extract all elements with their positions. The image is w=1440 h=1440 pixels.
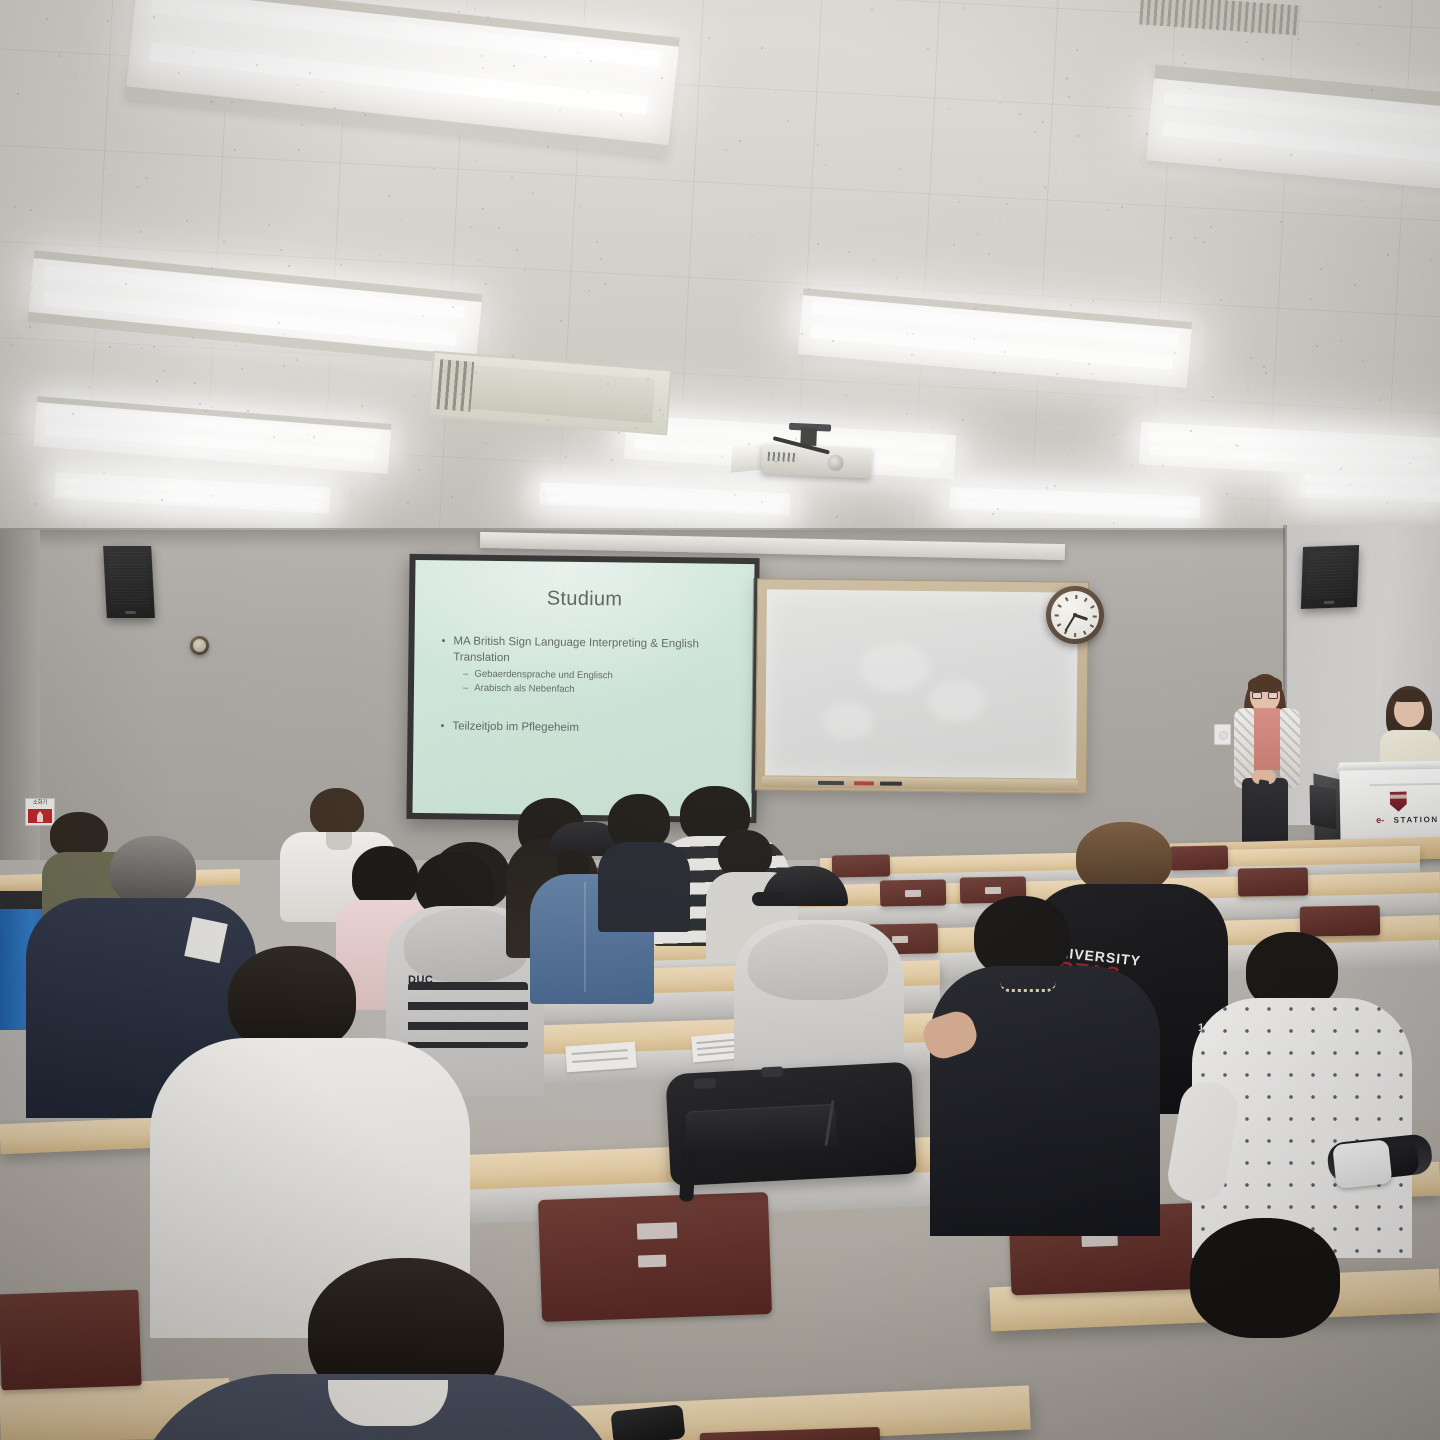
denim-seam <box>584 882 586 992</box>
chair-back <box>832 854 890 877</box>
chair-back <box>1170 845 1228 870</box>
shirt-collar <box>328 1380 448 1426</box>
bullet-marker: • <box>441 634 445 665</box>
slide-bullet: • Teilzeitjob im Pflegeheim <box>440 719 738 738</box>
ceiling-light-fixture <box>1300 467 1440 502</box>
sub-bullet-text: Arabisch als Nebenfach <box>474 681 575 696</box>
chair-back <box>880 879 946 906</box>
necklace <box>1000 982 1056 992</box>
cap-brim <box>752 892 784 906</box>
fire-extinguisher-sign-label: 소화기 <box>26 799 54 808</box>
backpack <box>665 1062 917 1187</box>
slide-bullet: • MA British Sign Language Interpreting … <box>441 634 739 669</box>
projection-screen: Studium • MA British Sign Language Inter… <box>406 554 759 823</box>
lecture-hall-photo: 소화기 Studium • MA British Sign Language I… <box>0 0 1440 1440</box>
sub-bullet-marker: – <box>463 681 468 695</box>
slide-title: Studium <box>415 586 754 613</box>
marker-tray <box>762 776 1078 790</box>
bullet-text: MA British Sign Language Interpreting & … <box>453 634 739 669</box>
bullet-text: Teilzeitjob im Pflegeheim <box>452 719 579 736</box>
hood <box>748 924 888 1000</box>
fire-extinguisher-sign: 소화기 <box>25 798 55 826</box>
university-crest-icon <box>1390 791 1407 811</box>
marker-icon <box>880 782 902 786</box>
whiteboard <box>755 578 1089 793</box>
hoodie-logo-text: DUC <box>408 974 433 986</box>
handout-paper <box>565 1042 637 1073</box>
speaker-icon <box>103 546 155 618</box>
chair-back <box>0 1290 142 1391</box>
speaker-icon <box>1301 545 1359 609</box>
chair-back <box>538 1192 772 1322</box>
podium-monitor <box>1310 785 1337 830</box>
chair-back <box>1300 905 1381 936</box>
vr-headset <box>1326 1133 1440 1226</box>
presentation-slide: Studium • MA British Sign Language Inter… <box>412 560 754 817</box>
marker-icon <box>854 781 874 785</box>
backpack-strap <box>679 1149 696 1202</box>
keys-object <box>610 1404 685 1440</box>
marker-icon <box>818 781 844 785</box>
collar <box>326 832 352 850</box>
projector-icon <box>761 426 873 479</box>
ceiling <box>0 0 1440 545</box>
glasses-icon <box>1252 692 1278 699</box>
hoodie-stripes <box>408 982 528 1048</box>
wall-dial-icon <box>190 636 209 655</box>
slide-body: • MA British Sign Language Interpreting … <box>440 634 739 740</box>
podium-brand-label: STATION <box>1374 815 1440 825</box>
sub-bullet-marker: – <box>463 668 468 682</box>
presenter-standing <box>1228 678 1302 850</box>
bullet-marker: • <box>440 719 444 735</box>
chair-back <box>1238 867 1308 896</box>
